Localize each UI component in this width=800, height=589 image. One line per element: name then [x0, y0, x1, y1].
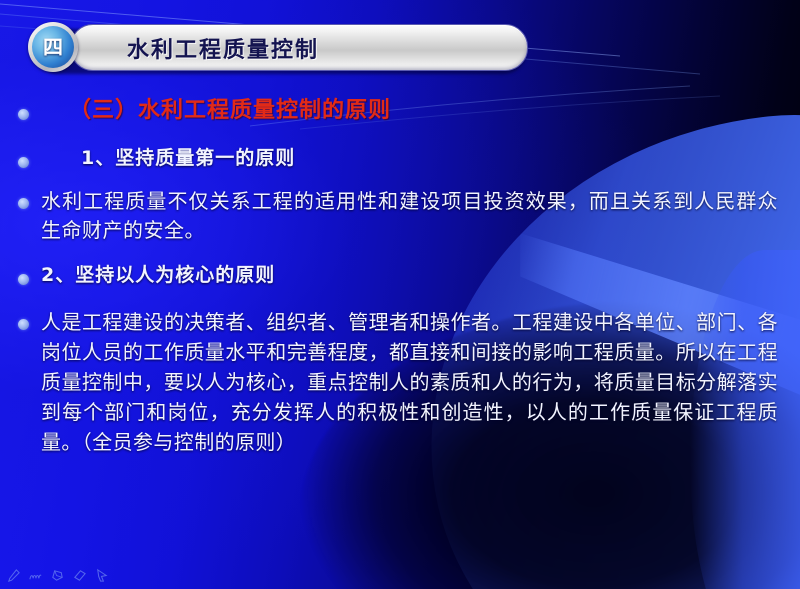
section-number-label: 四: [43, 37, 63, 57]
section-heading: （三）水利工程质量控制的原则: [41, 96, 778, 126]
pen-icon[interactable]: [6, 568, 21, 583]
spacer: [0, 132, 800, 146]
principle-2-title: 2、坚持以人为核心的原则: [41, 263, 778, 289]
bullet-icon: [18, 109, 29, 120]
bullet-row-principle-1-title: 1、坚持质量第一的原则: [0, 146, 800, 172]
section-number-badge: 四: [32, 26, 74, 68]
bullet-row-principle-1-body: 水利工程质量不仅关系工程的适用性和建设项目投资效果，而且关系到人民群众生命财产的…: [0, 187, 800, 245]
bullet-row-principle-2-body: 人是工程建设的决策者、组织者、管理者和操作者。工程建设中各单位、部门、各岗位人员…: [0, 307, 800, 457]
slide-header: 水利工程质量控制 四: [28, 24, 526, 74]
scribble-icon[interactable]: [28, 568, 43, 583]
bullet-icon: [18, 274, 29, 285]
bullet-icon: [18, 157, 29, 168]
principle-2-body: 人是工程建设的决策者、组织者、管理者和操作者。工程建设中各单位、部门、各岗位人员…: [41, 307, 778, 457]
bullet-icon: [18, 198, 29, 209]
page-title: 水利工程质量控制: [127, 32, 319, 64]
bullet-row-section-heading: （三）水利工程质量控制的原则: [0, 96, 800, 126]
header-badge-ring: 四: [28, 22, 78, 72]
spacer: [0, 295, 800, 307]
pointer-icon[interactable]: [94, 568, 109, 583]
annotation-toolbar[interactable]: [6, 568, 109, 583]
highlighter-icon[interactable]: [50, 568, 65, 583]
spacer: [0, 251, 800, 263]
header-pill: 水利工程质量控制: [70, 24, 528, 71]
slide: 水利工程质量控制 四 （三）水利工程质量控制的原则 1、坚持质量第一的原则 水利…: [0, 0, 800, 589]
slide-content: （三）水利工程质量控制的原则 1、坚持质量第一的原则 水利工程质量不仅关系工程的…: [0, 96, 800, 463]
spacer: [0, 177, 800, 187]
principle-1-body: 水利工程质量不仅关系工程的适用性和建设项目投资效果，而且关系到人民群众生命财产的…: [41, 187, 778, 245]
bullet-icon: [18, 319, 29, 330]
bullet-row-principle-2-title: 2、坚持以人为核心的原则: [0, 263, 800, 289]
principle-1-title: 1、坚持质量第一的原则: [41, 146, 778, 172]
eraser-icon[interactable]: [72, 568, 87, 583]
